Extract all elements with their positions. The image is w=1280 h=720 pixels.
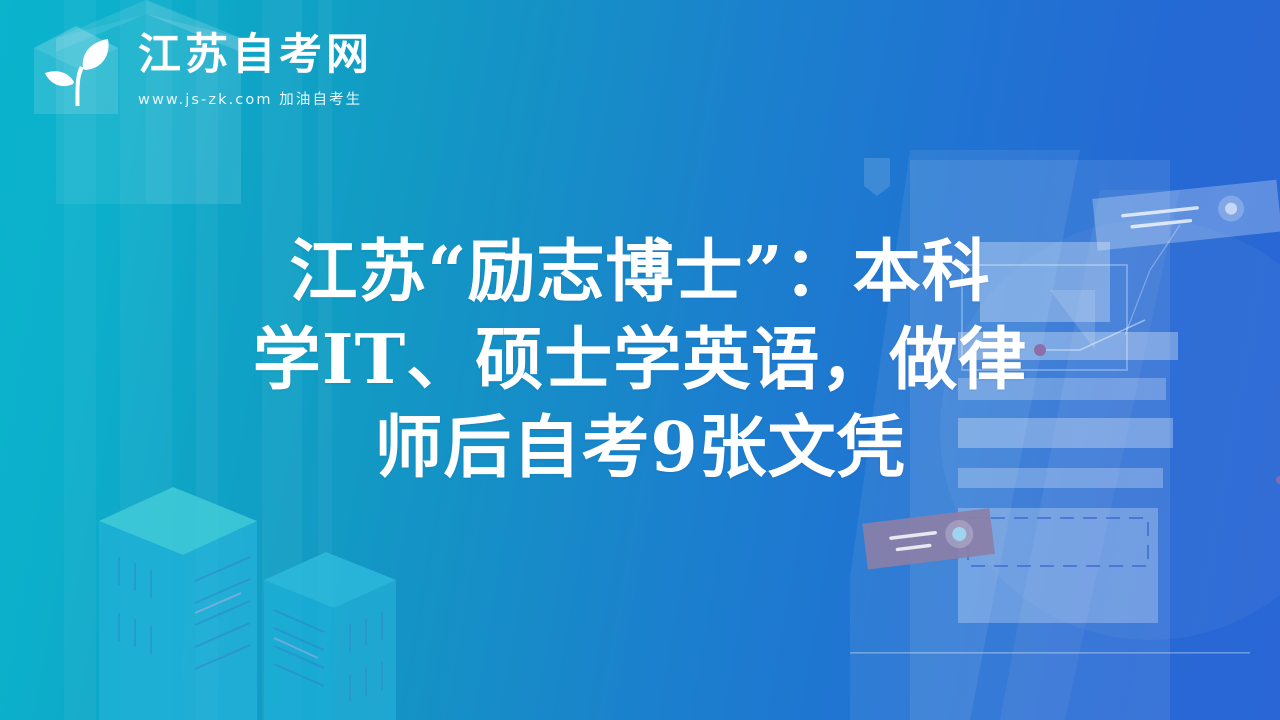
isometric-building-short	[260, 550, 460, 720]
headline-line-3: 师后自考9张文凭	[150, 404, 1130, 492]
headline-line-1: 江苏“励志博士”：本科	[150, 228, 1130, 316]
isometric-building-tall	[95, 485, 335, 720]
logo-title: 江苏自考网	[138, 33, 373, 78]
site-logo[interactable]: 江苏自考网 www.js-zk.com 加油自考生	[28, 22, 373, 118]
sprout-in-house-logo-icon	[28, 22, 124, 118]
logo-text: 江苏自考网 www.js-zk.com 加油自考生	[138, 33, 373, 108]
logo-subtitle: www.js-zk.com 加油自考生	[138, 88, 373, 109]
headline-line-2: 学IT、硕士学英语，做律	[150, 316, 1130, 404]
page-title: 江苏“励志博士”：本科 学IT、硕士学英语，做律 师后自考9张文凭	[150, 228, 1130, 492]
banner-canvas: 江苏自考网 www.js-zk.com 加油自考生	[0, 0, 1280, 720]
